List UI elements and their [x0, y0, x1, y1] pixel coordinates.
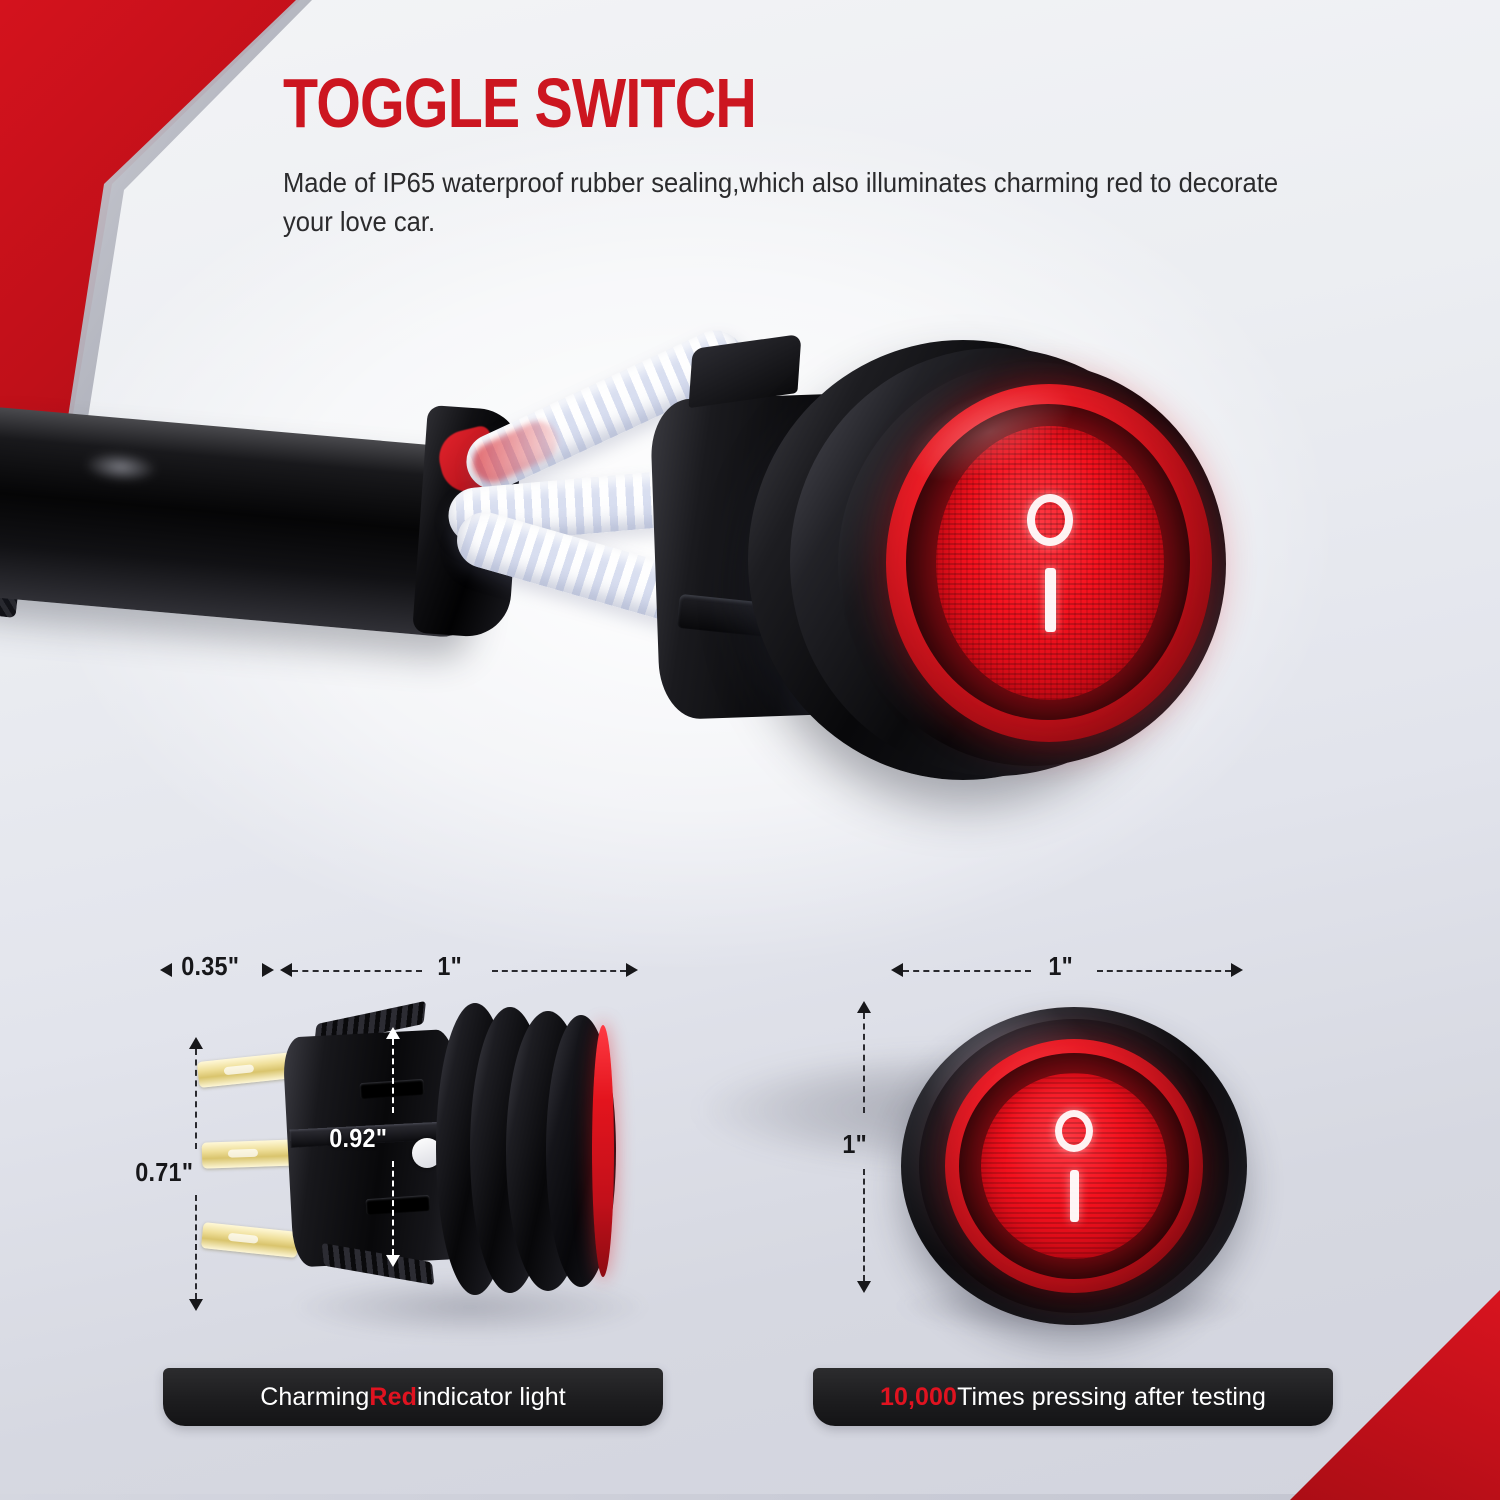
page-subtitle: Made of IP65 waterproof rubber sealing,w…: [283, 163, 1334, 241]
infographic-page: TOGGLE SWITCH Made of IP65 waterproof ru…: [0, 0, 1500, 1500]
caption-left-highlight: Red: [369, 1383, 417, 1412]
dimension-line-front-height-b: [863, 1169, 865, 1281]
switch-illuminated-face[interactable]: [936, 426, 1164, 700]
switch-terminal-1: [197, 1052, 295, 1088]
dimension-terminal-depth: 0.35": [181, 951, 239, 982]
arrow-down-front-height: [857, 1281, 871, 1293]
hero-product-illustration: [0, 280, 1500, 940]
caption-left-prefix: Charming: [260, 1383, 369, 1412]
caption-pill-press-testing: 10,000 Times pressing after testing: [813, 1368, 1333, 1426]
bottom-edge-strip: [0, 1494, 1500, 1500]
caption-left-suffix: indicator light: [417, 1383, 566, 1412]
caption-right-highlight: 10,000: [880, 1383, 957, 1412]
arrow-down-terminal-span: [189, 1299, 203, 1311]
dimension-line-body-length-a: [292, 970, 422, 972]
dimension-line-front-width-b: [1097, 970, 1231, 972]
side-view-red-edge: [592, 1025, 614, 1277]
dimension-front-height: 1": [842, 1129, 867, 1160]
dimension-line-body-length-b: [492, 970, 626, 972]
front-view-illuminated-face[interactable]: [981, 1073, 1167, 1259]
dimension-line-front-height-a: [863, 1013, 865, 1113]
dimension-body-diameter: 0.92": [329, 1123, 387, 1154]
switch-terminal-3: [201, 1222, 299, 1258]
power-off-o-icon: [1027, 494, 1073, 546]
switch-terminal-2: [202, 1139, 299, 1168]
arrow-down-body-diameter: [386, 1255, 400, 1267]
caption-right-suffix: Times pressing after testing: [957, 1383, 1266, 1412]
dimension-line-body-diameter-b: [392, 1161, 394, 1255]
page-title: TOGGLE SWITCH: [283, 70, 1210, 137]
dimension-body-length: 1": [437, 951, 462, 982]
arrow-up-terminal-span: [189, 1037, 203, 1049]
arrow-right-body-length: [626, 963, 638, 977]
dimension-front-width: 1": [1048, 951, 1073, 982]
header-block: TOGGLE SWITCH Made of IP65 waterproof ru…: [283, 70, 1413, 241]
arrow-left-035: [160, 963, 172, 977]
arrow-up-front-height: [857, 1001, 871, 1013]
arrow-right-front-width: [1231, 963, 1243, 977]
dimension-terminal-span: 0.71": [135, 1157, 193, 1188]
arrow-left-body-length: [280, 963, 292, 977]
power-on-i-icon: [1070, 1170, 1079, 1222]
arrow-up-body-diameter: [386, 1027, 400, 1039]
dimension-line-terminal-span-b: [195, 1195, 197, 1299]
dimension-line-front-width-a: [903, 970, 1031, 972]
caption-pill-indicator-light: Charming Red indicator light: [163, 1368, 663, 1426]
power-on-i-icon: [1045, 568, 1056, 632]
arrow-left-front-width: [891, 963, 903, 977]
power-off-o-icon: [1055, 1110, 1093, 1152]
arrow-right-035: [262, 963, 274, 977]
dimension-line-body-diameter-a: [392, 1039, 394, 1113]
